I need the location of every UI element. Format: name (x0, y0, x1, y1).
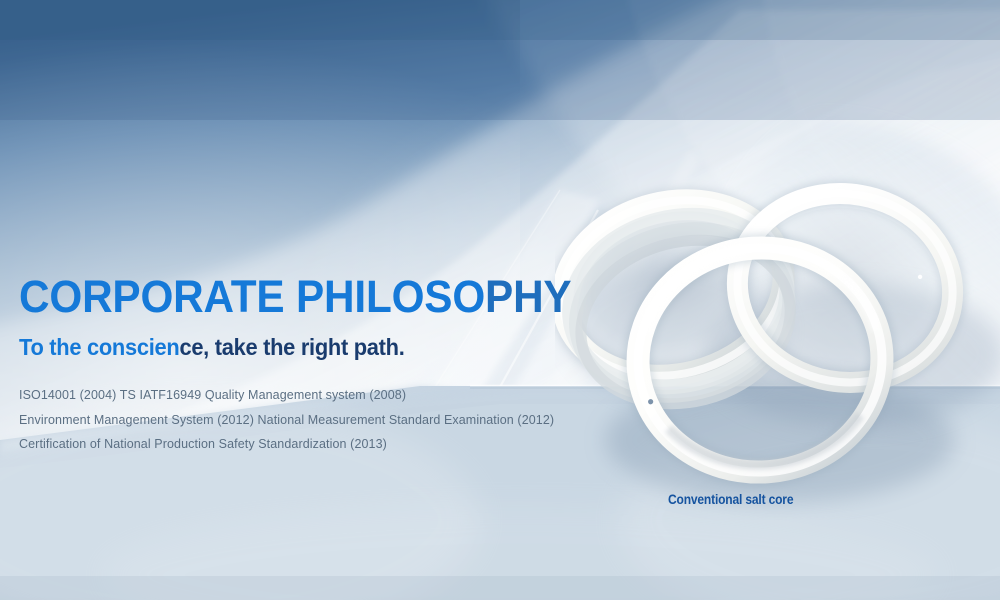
philosophy-text-block: CORPORATE PHILOSOPHY To the conscience, … (19, 272, 639, 457)
corporate-philosophy-banner: CORPORATE PHILOSOPHY To the conscience, … (0, 0, 1000, 600)
certification-line: Certification of National Production Saf… (19, 432, 639, 457)
page-title-part-b: PHY (485, 271, 571, 322)
page-subtitle: To the conscience, take the right path. (19, 334, 608, 361)
certification-list: ISO14001 (2004) TS IATF16949 Quality Man… (19, 383, 639, 457)
certification-line: Environment Management System (2012) Nat… (19, 408, 639, 433)
page-title: CORPORATE PHILOSOPHY (19, 272, 602, 322)
page-subtitle-part-b: ce, take the right path. (179, 334, 404, 360)
page-subtitle-part-a: To the conscien (19, 334, 179, 360)
page-title-part-a: CORPORATE PHILOSO (19, 271, 485, 322)
product-caption: Conventional salt core (668, 491, 793, 507)
certification-line: ISO14001 (2004) TS IATF16949 Quality Man… (19, 383, 639, 408)
